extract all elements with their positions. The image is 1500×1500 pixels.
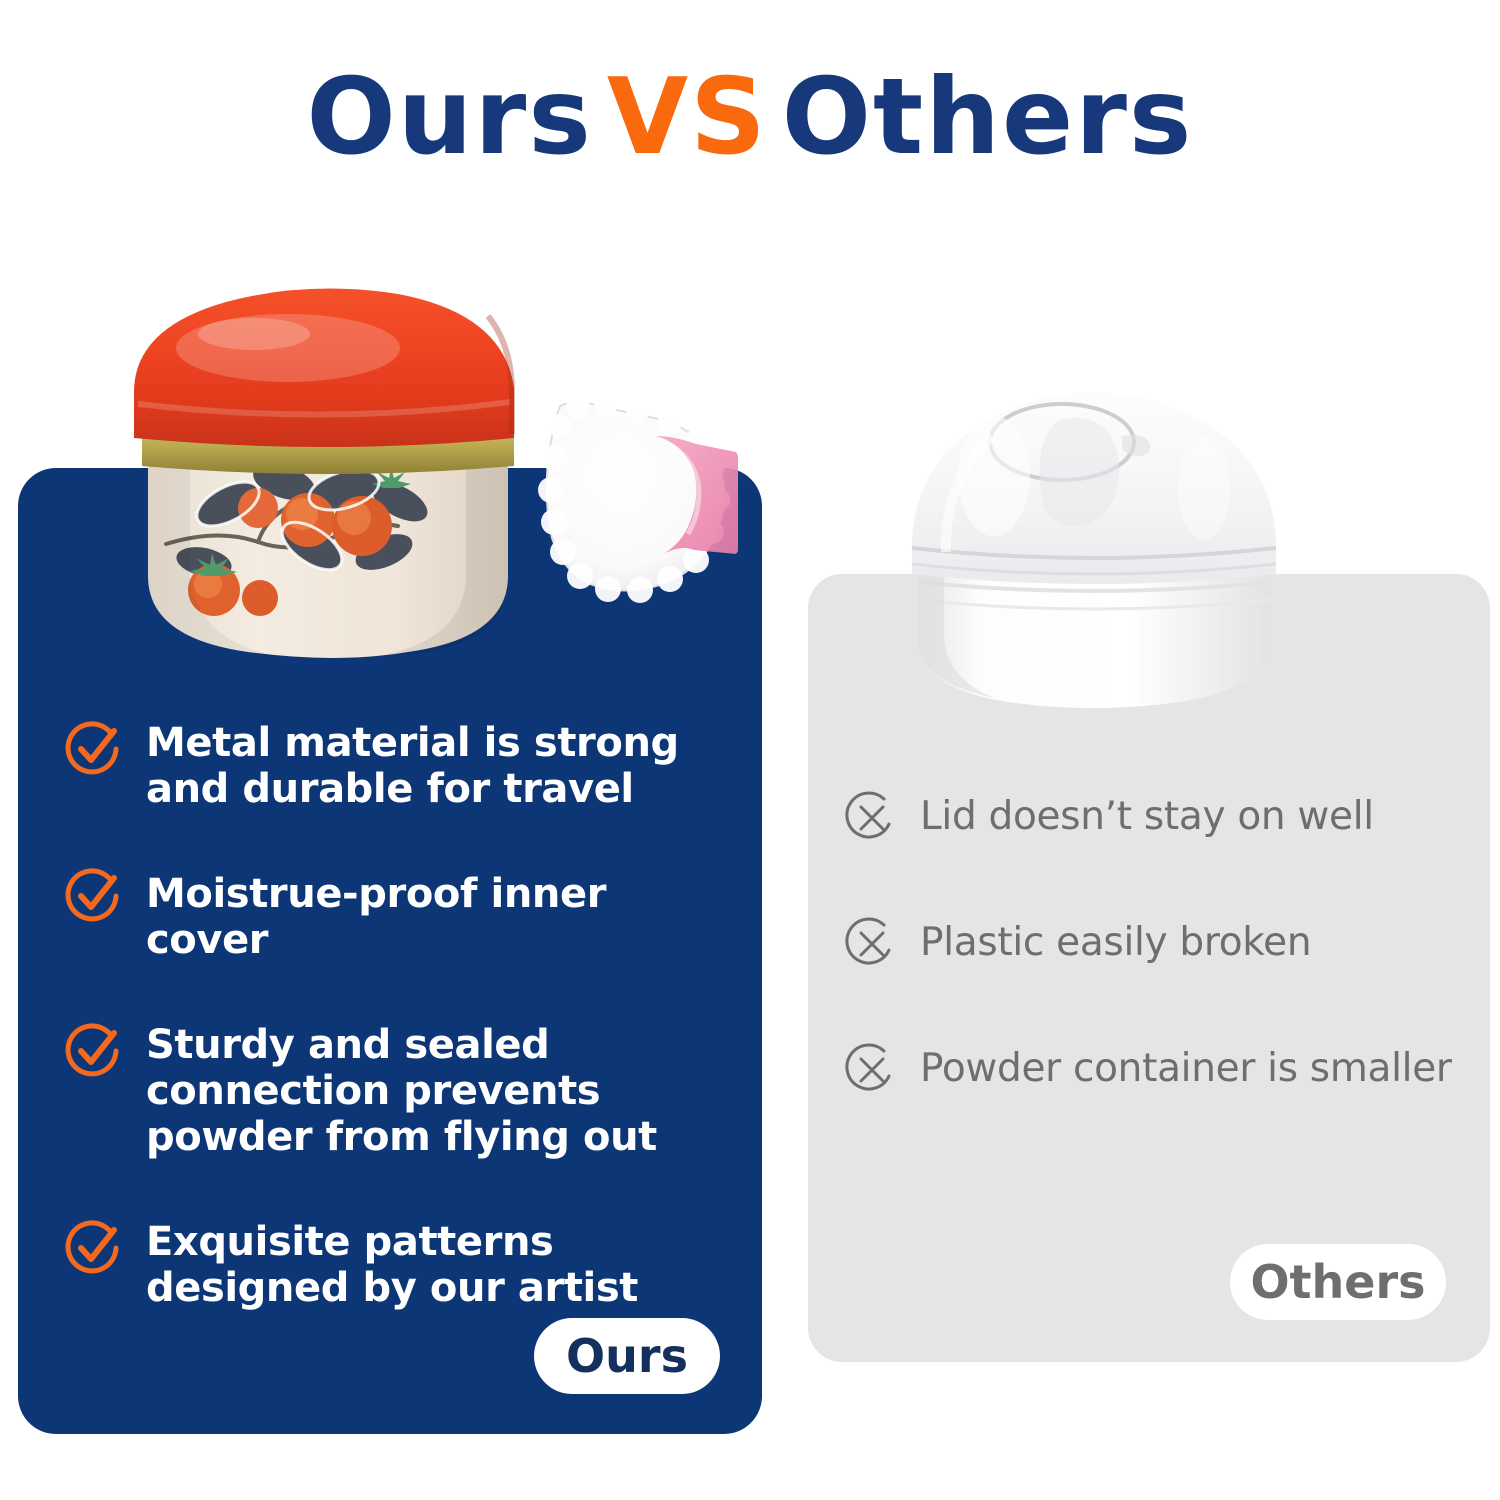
list-item: Moistrue-proof inner cover: [64, 869, 728, 964]
list-item-label: Exquisite patterns designed by our artis…: [146, 1217, 728, 1312]
ours-badge: Ours: [534, 1318, 720, 1394]
red-lid: [134, 289, 514, 447]
metal-jar: [148, 457, 508, 658]
others-feature-list: Lid doesn’t stay on well Plastic easily …: [808, 790, 1490, 1098]
check-circle-icon: [64, 865, 124, 925]
x-circle-icon: [844, 916, 900, 972]
check-circle-icon: [64, 718, 124, 778]
list-item-label: Powder container is smaller: [920, 1042, 1452, 1091]
list-item: Plastic easily broken: [844, 916, 1466, 972]
list-item-label: Metal material is strong and durable for…: [146, 718, 728, 813]
title-ours-word: Ours: [307, 56, 593, 178]
list-item: Powder container is smaller: [844, 1042, 1466, 1098]
title-others-word: Others: [782, 56, 1194, 178]
list-item-label: Sturdy and sealed connection prevents po…: [146, 1020, 728, 1161]
list-item: Sturdy and sealed connection prevents po…: [64, 1020, 728, 1161]
x-circle-icon: [844, 1042, 900, 1098]
x-circle-icon: [844, 790, 900, 846]
plastic-base: [918, 568, 1270, 708]
others-badge: Others: [1230, 1244, 1446, 1320]
check-circle-icon: [64, 1217, 124, 1277]
check-circle-icon: [64, 1020, 124, 1080]
title-vs-word: VS: [607, 56, 768, 178]
clear-dome-lid: [912, 392, 1276, 584]
list-item: Lid doesn’t stay on well: [844, 790, 1466, 846]
others-product-image: [884, 372, 1304, 732]
page-title: OursVSOthers: [0, 62, 1500, 172]
list-item-label: Plastic easily broken: [920, 916, 1311, 965]
ours-badge-label: Ours: [566, 1329, 688, 1383]
powder-puff: [538, 392, 738, 603]
list-item: Exquisite patterns designed by our artis…: [64, 1217, 728, 1312]
list-item: Metal material is strong and durable for…: [64, 718, 728, 813]
ours-product-image: [108, 276, 738, 676]
list-item-label: Lid doesn’t stay on well: [920, 790, 1374, 839]
others-badge-label: Others: [1250, 1255, 1425, 1309]
ours-feature-list: Metal material is strong and durable for…: [18, 718, 762, 1312]
list-item-label: Moistrue-proof inner cover: [146, 869, 728, 964]
